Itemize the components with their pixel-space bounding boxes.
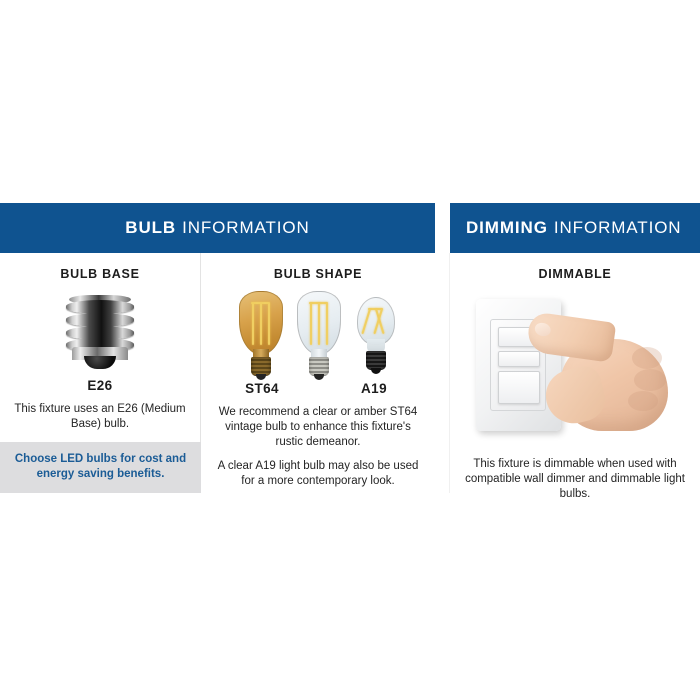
- dimming-header-strong: DIMMING: [466, 218, 548, 238]
- bulb-header-strong: BULB: [125, 218, 176, 238]
- wall-dimmer-switch-with-hand-icon: [468, 295, 683, 445]
- bulb-shape-title: BULB SHAPE: [201, 267, 435, 281]
- info-graphic-canvas: BULB INFORMATION BULB BASE: [0, 0, 700, 700]
- dimmable-title: DIMMABLE: [450, 267, 700, 281]
- clear-a19-bulb-icon: [355, 297, 397, 377]
- bulb-shape-column: BULB SHAPE: [201, 253, 435, 493]
- bulb-information-header: BULB INFORMATION: [0, 203, 435, 253]
- bulb-shape-caption-st64: ST64: [225, 381, 299, 396]
- bulb-base-title: BULB BASE: [0, 267, 200, 281]
- dimming-information-header: DIMMING INFORMATION: [450, 203, 700, 253]
- bulb-panel-body: BULB BASE E26 This fixture uses an E26 (…: [0, 253, 435, 493]
- bulb-information-panel: BULB INFORMATION BULB BASE: [0, 203, 435, 493]
- amber-st64-bulb-icon: [239, 291, 283, 377]
- e26-screw-base-icon: [0, 295, 200, 369]
- dimming-header-light: INFORMATION: [554, 218, 682, 238]
- hand-illustration: [528, 317, 678, 437]
- bulb-header-light: INFORMATION: [182, 218, 310, 238]
- clear-st64-bulb-icon: [297, 291, 341, 377]
- bulb-base-caption: E26: [0, 378, 200, 393]
- led-tip-banner: Choose LED bulbs for cost and energy sav…: [0, 442, 201, 493]
- bulb-base-description: This fixture uses an E26 (Medium Base) b…: [0, 402, 200, 432]
- bulb-shape-caption-a19: A19: [337, 381, 411, 396]
- dimming-information-panel: DIMMING INFORMATION DIMMABLE: [450, 203, 700, 493]
- dimmable-description: This fixture is dimmable when used with …: [450, 457, 700, 502]
- bulb-shape-captions: ST64 A19: [201, 381, 435, 396]
- bulb-shape-description-primary: We recommend a clear or amber ST64 vinta…: [201, 405, 435, 450]
- bulb-shape-description-secondary: A clear A19 light bulb may also be used …: [201, 459, 435, 489]
- bulb-base-column: BULB BASE E26 This fixture uses an E26 (…: [0, 253, 201, 493]
- bulb-shape-figure-row: [201, 291, 435, 377]
- dimming-panel-body: DIMMABLE This f: [450, 267, 700, 502]
